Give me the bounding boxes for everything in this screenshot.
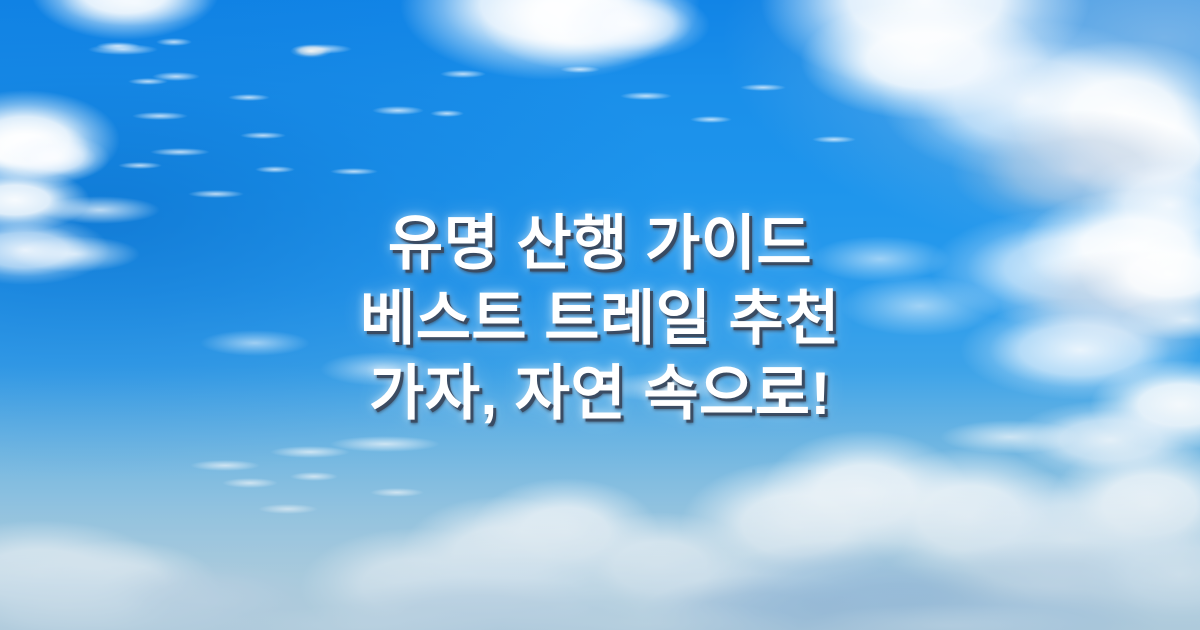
headline-line-3: 가자, 자연 속으로! xyxy=(0,356,1200,431)
headline-line-1: 유명 산행 가이드 xyxy=(0,206,1200,281)
headline-line-2: 베스트 트레일 추천 xyxy=(0,281,1200,356)
sky-banner: 유명 산행 가이드 베스트 트레일 추천 가자, 자연 속으로! xyxy=(0,0,1200,630)
headline-block: 유명 산행 가이드 베스트 트레일 추천 가자, 자연 속으로! xyxy=(0,206,1200,431)
